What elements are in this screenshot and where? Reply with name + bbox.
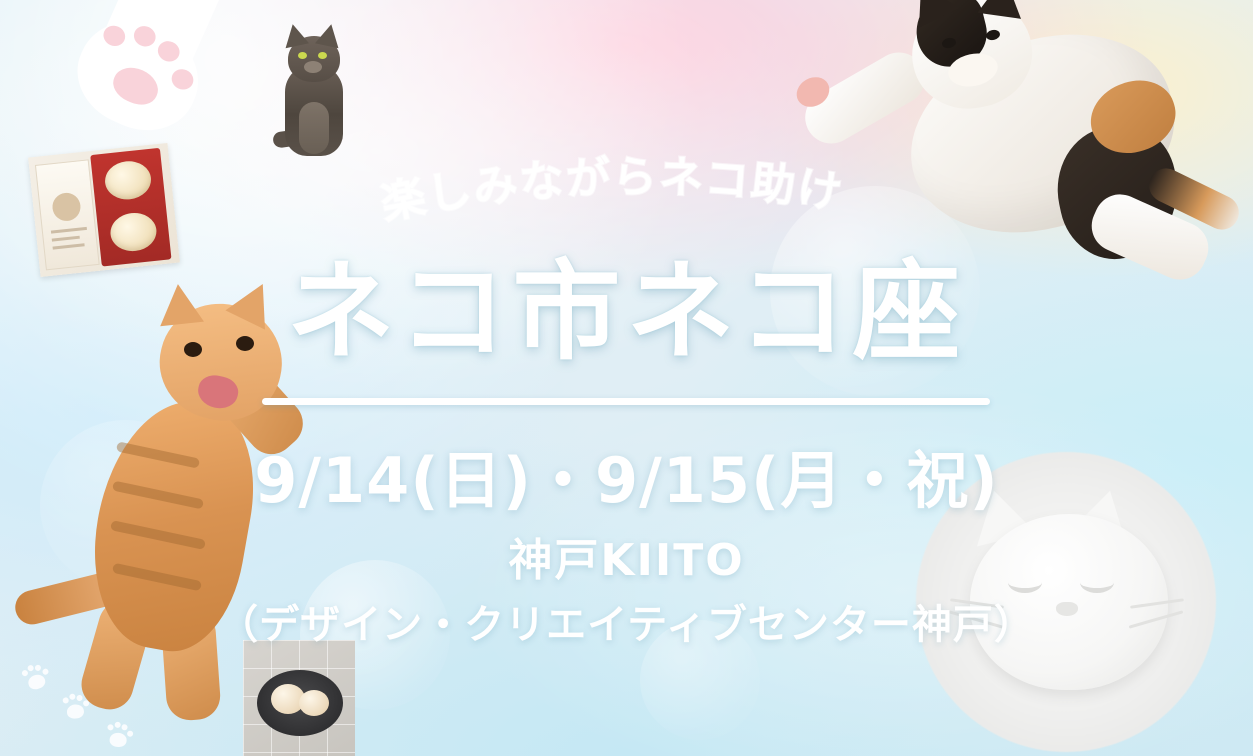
event-dates: 9/14(日)・9/15(月・祝) <box>0 430 1253 520</box>
sweets-plate-photo <box>243 640 355 756</box>
tabby-cat-photo <box>271 18 357 158</box>
event-venue: 神戸KIITO <box>0 524 1253 588</box>
page-title: ネコ市ネコ座 <box>0 258 1253 368</box>
title-underline <box>262 398 990 405</box>
sweets-gift-box-photo <box>28 143 180 277</box>
event-poster: 楽しみながらネコ助け ネコ市ネコ座 9/14(日)・9/15(月・祝) 神戸KI… <box>0 0 1253 756</box>
event-venue-subtitle: （デザイン・クリエイティブセンター神戸） <box>0 592 1253 650</box>
